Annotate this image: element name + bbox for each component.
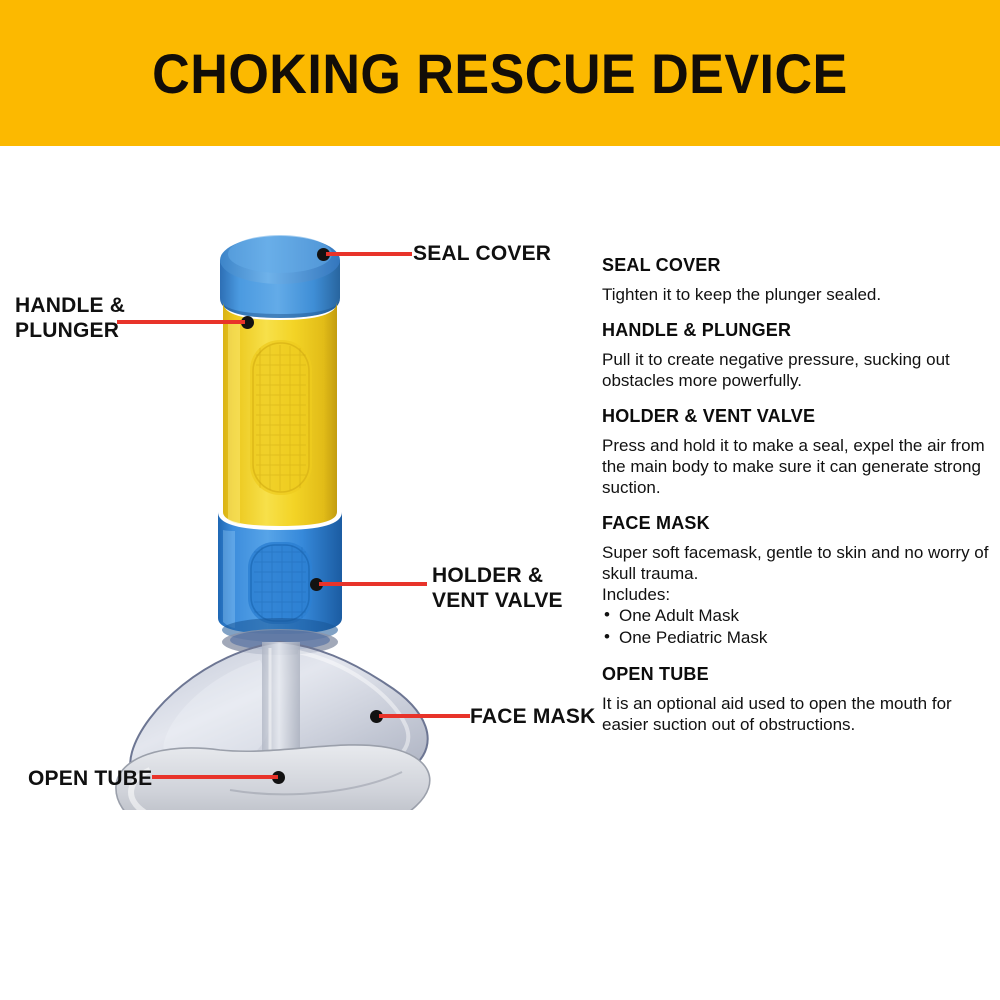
description-body-holder-vent-valve: Press and hold it to make a seal, expel …	[602, 435, 994, 498]
infographic-page: CHOKING RESCUE DEVICE	[0, 0, 1000, 1000]
description-body-open-tube: It is an optional aid used to open the m…	[602, 693, 994, 735]
face-mask-leader-line	[379, 714, 470, 718]
callout-label-handle-plunger-line1: HANDLE &	[15, 293, 125, 318]
handle-plunger-leader-line	[117, 320, 245, 324]
callout-label-holder-line1: HOLDER &	[432, 563, 543, 588]
description-body-face-mask: Super soft facemask, gentle to skin and …	[602, 542, 994, 584]
description-block-handle-plunger: HANDLE & PLUNGER Pull it to create negat…	[602, 320, 994, 391]
holder-vent-valve-leader-line	[319, 582, 427, 586]
handle-plunger-part	[223, 302, 337, 526]
description-block-seal-cover: SEAL COVER Tighten it to keep the plunge…	[602, 255, 994, 305]
description-block-holder-vent-valve: HOLDER & VENT VALVE Press and hold it to…	[602, 406, 994, 498]
description-heading-handle-plunger: HANDLE & PLUNGER	[602, 320, 994, 341]
seal-cover-leader-line	[326, 252, 412, 256]
page-title: CHOKING RESCUE DEVICE	[152, 41, 848, 106]
title-banner: CHOKING RESCUE DEVICE	[0, 0, 1000, 146]
callout-label-open-tube: OPEN TUBE	[28, 766, 152, 791]
description-body-seal-cover: Tighten it to keep the plunger sealed.	[602, 284, 994, 305]
description-block-open-tube: OPEN TUBE It is an optional aid used to …	[602, 664, 994, 735]
open-tube-leader-line	[152, 775, 278, 779]
list-item: One Adult Mask	[602, 605, 994, 627]
description-column: SEAL COVER Tighten it to keep the plunge…	[602, 255, 994, 750]
description-includes-label: Includes:	[602, 584, 994, 605]
description-body-handle-plunger: Pull it to create negative pressure, suc…	[602, 349, 994, 391]
face-mask-includes-list: One Adult Mask One Pediatric Mask	[602, 605, 994, 649]
callout-label-handle-plunger-line2: PLUNGER	[15, 318, 119, 343]
face-mask-part	[116, 642, 430, 810]
holder-vent-valve-part	[218, 512, 342, 642]
description-block-face-mask: FACE MASK Super soft facemask, gentle to…	[602, 513, 994, 649]
callout-label-holder-line2: VENT VALVE	[432, 588, 563, 613]
description-heading-holder-vent-valve: HOLDER & VENT VALVE	[602, 406, 994, 427]
list-item: One Pediatric Mask	[602, 627, 994, 649]
description-heading-seal-cover: SEAL COVER	[602, 255, 994, 276]
callout-label-seal-cover: SEAL COVER	[413, 241, 551, 266]
description-heading-open-tube: OPEN TUBE	[602, 664, 994, 685]
description-heading-face-mask: FACE MASK	[602, 513, 994, 534]
callout-label-face-mask: FACE MASK	[470, 704, 595, 729]
